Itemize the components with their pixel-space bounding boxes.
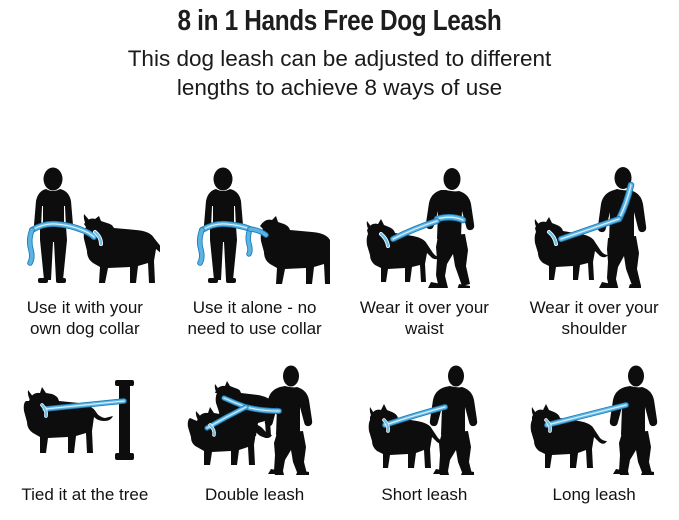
panel-caption: Double leash <box>201 484 308 505</box>
panel-long-leash: Long leash <box>509 363 679 505</box>
usage-panel-grid: Use it with your own dog collar <box>0 163 679 505</box>
caption-line-1: Wear it over your <box>360 297 489 318</box>
caption-line-1: Double leash <box>205 484 304 505</box>
panel-use-with-own-collar: Use it with your own dog collar <box>0 163 170 339</box>
caption-line-1: Tied it at the tree <box>21 484 148 505</box>
illustration-person-walking-dog-long-leash <box>509 363 679 475</box>
illustration-person-walking-waist-belt-dog <box>340 163 510 288</box>
panel-caption: Wear it over your shoulder <box>526 297 663 339</box>
illustration-person-walking-shoulder-strap-dog <box>509 163 679 288</box>
subtitle-line-1: This dog leash can be adjusted to differ… <box>72 44 607 73</box>
panel-use-alone-no-collar: Use it alone - no need to use collar <box>170 163 340 339</box>
caption-line-2: waist <box>360 318 489 339</box>
panel-caption: Tied it at the tree <box>17 484 152 505</box>
illustration-person-standing-dog-slip-leash <box>170 163 340 288</box>
panel-wear-over-waist: Wear it over your waist <box>340 163 510 339</box>
caption-line-1: Long leash <box>553 484 636 505</box>
illustration-person-standing-dog-collar-leash <box>0 163 170 288</box>
illustration-person-walking-dog-short-leash <box>340 363 510 475</box>
panel-caption: Wear it over your waist <box>356 297 493 339</box>
subtitle: This dog leash can be adjusted to differ… <box>0 44 679 102</box>
panel-caption: Short leash <box>377 484 471 505</box>
panel-caption: Use it with your own dog collar <box>23 297 147 339</box>
panel-row-2: Tied it at the tree <box>0 363 679 505</box>
panel-caption: Use it alone - no need to use collar <box>184 297 326 339</box>
caption-line-1: Use it with your <box>27 297 143 318</box>
caption-line-2: need to use collar <box>188 318 322 339</box>
caption-line-2: own dog collar <box>27 318 143 339</box>
illustration-dog-tied-to-post <box>0 363 170 475</box>
illustration-person-walking-two-dogs <box>170 363 340 475</box>
page-title: 8 in 1 Hands Free Dog Leash <box>54 4 624 38</box>
panel-wear-over-shoulder: Wear it over your shoulder <box>509 163 679 339</box>
panel-short-leash: Short leash <box>340 363 510 505</box>
subtitle-line-2: lengths to achieve 8 ways of use <box>72 73 607 102</box>
caption-line-1: Wear it over your <box>530 297 659 318</box>
panel-caption: Long leash <box>549 484 640 505</box>
panel-row-1: Use it with your own dog collar <box>0 163 679 339</box>
caption-line-1: Use it alone - no <box>188 297 322 318</box>
panel-tied-at-tree: Tied it at the tree <box>0 363 170 505</box>
header: 8 in 1 Hands Free Dog Leash This dog lea… <box>0 0 679 102</box>
product-infographic: 8 in 1 Hands Free Dog Leash This dog lea… <box>0 0 679 520</box>
panel-double-leash: Double leash <box>170 363 340 505</box>
caption-line-2: shoulder <box>530 318 659 339</box>
caption-line-1: Short leash <box>381 484 467 505</box>
